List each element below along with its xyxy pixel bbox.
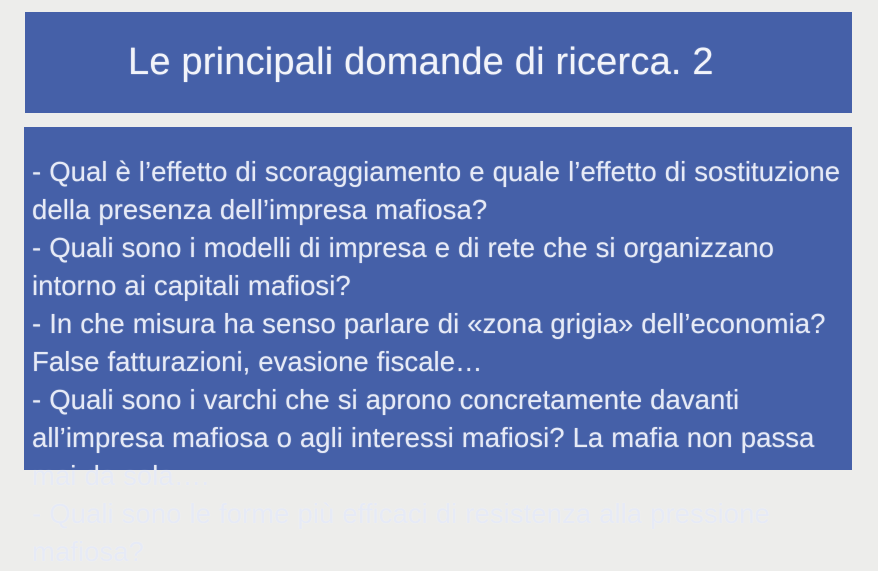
list-item: - In che misura ha senso parlare di «zon… bbox=[32, 305, 846, 381]
slide-body-box: - Qual è l’effetto di scoraggiamento e q… bbox=[24, 127, 852, 470]
list-item: - Quali sono i varchi che si aprono conc… bbox=[32, 381, 846, 495]
list-item: - Qual è l’effetto di scoraggiamento e q… bbox=[32, 153, 846, 229]
bullet-list: - Qual è l’effetto di scoraggiamento e q… bbox=[32, 153, 846, 571]
slide: Le principali domande di ricerca. 2 - Qu… bbox=[0, 0, 878, 484]
page-title: Le principali domande di ricerca. 2 bbox=[128, 43, 714, 83]
slide-title-box: Le principali domande di ricerca. 2 bbox=[25, 12, 852, 113]
list-item: - Quali sono le forme più efficaci di re… bbox=[32, 495, 846, 571]
list-item: - Quali sono i modelli di impresa e di r… bbox=[32, 229, 846, 305]
